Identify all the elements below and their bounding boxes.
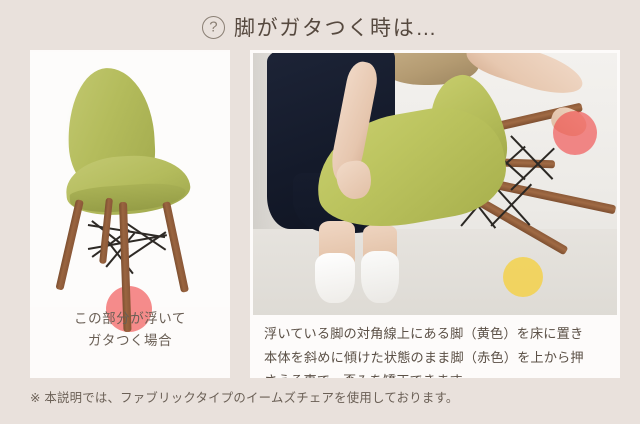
red-highlight-circle <box>553 111 597 155</box>
right-caption-line-2: 本体を斜めに傾けた状態のまま脚（赤色）を上から押 <box>264 346 606 370</box>
person-sock-right <box>361 251 399 303</box>
right-caption-line-1: 浮いている脚の対角線上にある脚（黄色）を床に置き <box>264 322 606 346</box>
floor-surface <box>253 229 617 315</box>
person-sock-left <box>315 253 355 303</box>
chair-leg-front-right <box>162 201 189 293</box>
question-mark-glyph: ? <box>209 19 217 34</box>
footnote-text: ※ 本説明では、ファブリックタイプのイームズチェアを使用しております。 <box>30 388 459 406</box>
left-caption-line-1: この部分が浮いて <box>30 308 230 330</box>
chair-leg-front-left <box>55 199 83 290</box>
chair-illustration <box>30 52 230 307</box>
left-panel: この部分が浮いて ガタつく場合 <box>30 50 230 378</box>
instruction-photo <box>253 53 617 315</box>
instruction-page: ? 脚がガタつく時は… この部分が浮いて ガタ <box>0 0 640 424</box>
right-panel-caption: 浮いている脚の対角線上にある脚（黄色）を床に置き 本体を斜めに傾けた状態のまま脚… <box>250 316 620 378</box>
left-panel-caption: この部分が浮いて ガタつく場合 <box>30 308 230 352</box>
right-caption-line-3: さえる事で、歪みを矯正できます。 <box>264 369 606 378</box>
page-title: 脚がガタつく時は… <box>234 12 438 42</box>
left-caption-line-2: ガタつく場合 <box>30 330 230 352</box>
right-panel: 浮いている脚の対角線上にある脚（黄色）を床に置き 本体を斜めに傾けた状態のまま脚… <box>250 50 620 378</box>
question-circle-icon: ? <box>202 16 225 39</box>
yellow-highlight-circle <box>503 257 543 297</box>
page-title-bar: ? 脚がガタつく時は… <box>0 8 640 46</box>
